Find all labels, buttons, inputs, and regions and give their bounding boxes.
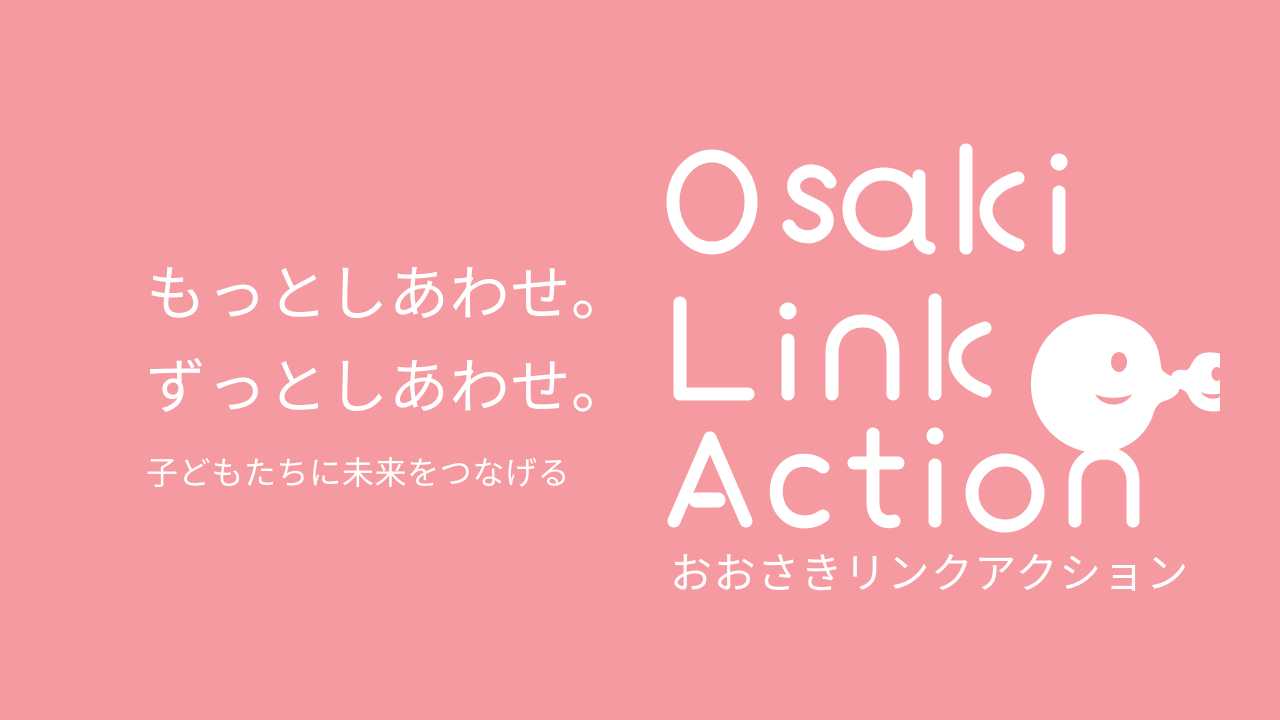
mascot-small-body (1171, 352, 1220, 411)
glyph-o-lower (972, 460, 1038, 526)
glyph-o-upper (673, 156, 751, 248)
glyph-i-dot-2 (780, 303, 797, 320)
glyph-c (776, 460, 823, 522)
mascot-large (1031, 314, 1180, 453)
mascot-large-eye (1111, 352, 1127, 372)
tagline-line-1: もっとしあわせ。 (146, 248, 646, 341)
glyph-a-bowl (849, 174, 919, 244)
glyph-A-left (674, 438, 710, 521)
tagline-subtitle: 子どもたちに未来をつなげる (146, 448, 646, 494)
tagline-block: もっとしあわせ。 ずっとしあわせ。 子どもたちに未来をつなげる (146, 248, 646, 494)
logo-reading-kana: おおさきリンクアクション (670, 540, 1190, 601)
glyph-k-bowl-2 (955, 328, 985, 391)
glyph-i-dot-upper (1051, 154, 1068, 171)
glyph-n-2 (1075, 453, 1133, 521)
glyph-A-right (710, 438, 746, 521)
logo-word-osaki (673, 150, 1059, 248)
glyph-a-stem (919, 176, 929, 248)
logo-word-link (680, 300, 985, 394)
mascot-large-body (1031, 314, 1180, 453)
glyph-s (789, 171, 830, 237)
brand-logo: おおさきリンクアクション (660, 140, 1220, 610)
mascot-small (1171, 352, 1220, 411)
logo-lettering-svg (660, 140, 1220, 540)
glyph-t-stem (873, 434, 894, 522)
poster-canvas: もっとしあわせ。 ずっとしあわせ。 子どもたちに未来をつなげる (0, 0, 1280, 720)
tagline-line-2: ずっとしあわせ。 (146, 341, 646, 434)
glyph-L (680, 303, 748, 394)
glyph-i-dot-3 (927, 428, 944, 445)
glyph-n (832, 321, 893, 394)
logo-word-action (674, 434, 1133, 526)
glyph-k-bowl (986, 178, 1018, 245)
